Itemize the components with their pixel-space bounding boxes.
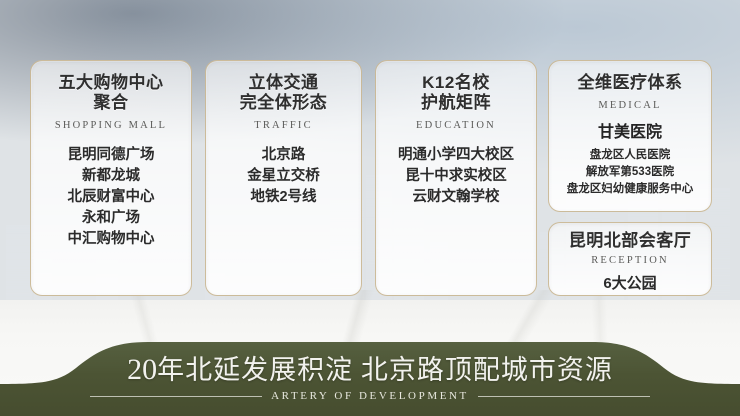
- card-subtitle: TRAFFIC: [206, 120, 361, 131]
- bottom-banner: 20年北延发展积淀 北京路顶配城市资源 ARTERY OF DEVELOPMEN…: [0, 340, 740, 416]
- card-reception[interactable]: 昆明北部会客厅 RECEPTION 6大公园: [548, 222, 712, 296]
- card-title-line: 五大购物中心: [31, 73, 191, 93]
- list-item: 昆明同德广场: [31, 145, 191, 166]
- card-item-list: 明通小学四大校区 昆十中求实校区 云财文翰学校: [376, 145, 536, 208]
- card-education[interactable]: K12名校 护航矩阵 EDUCATION 明通小学四大校区 昆十中求实校区 云财…: [375, 60, 537, 296]
- card-title: 昆明北部会客厅: [549, 231, 711, 251]
- card-subtitle: MEDICAL: [549, 100, 711, 111]
- card-title-line: 完全体形态: [206, 93, 361, 113]
- banner-subtitle: ARTERY OF DEVELOPMENT: [271, 390, 469, 402]
- banner-rule-right: [478, 396, 650, 397]
- banner-number: 20: [127, 353, 157, 386]
- card-title: 五大购物中心 聚合: [31, 73, 191, 113]
- banner-text-block: 20年北延发展积淀 北京路顶配城市资源 ARTERY OF DEVELOPMEN…: [0, 340, 740, 416]
- card-title-line: 护航矩阵: [376, 93, 536, 113]
- list-item: 昆十中求实校区: [376, 166, 536, 187]
- list-item: 金星立交桥: [206, 166, 361, 187]
- card-subtitle: RECEPTION: [549, 255, 711, 266]
- card-item-list: 昆明同德广场 新都龙城 北辰财富中心 永和广场 中汇购物中心: [31, 145, 191, 250]
- list-item: 解放军第533医院: [549, 164, 711, 181]
- list-item: 中汇购物中心: [31, 229, 191, 250]
- card-item-list: 6大公园: [549, 274, 711, 294]
- card-title-line: 聚合: [31, 93, 191, 113]
- list-item: 盘龙区妇幼健康服务中心: [549, 181, 711, 198]
- list-item: 新都龙城: [31, 166, 191, 187]
- card-title: K12名校 护航矩阵: [376, 73, 536, 113]
- card-title-line: K12名校: [376, 73, 536, 93]
- banner-subtitle-row: ARTERY OF DEVELOPMENT: [90, 390, 650, 402]
- card-title-line: 立体交通: [206, 73, 361, 93]
- card-title: 立体交通 完全体形态: [206, 73, 361, 113]
- list-item: 地铁2号线: [206, 187, 361, 208]
- card-shopping-mall[interactable]: 五大购物中心 聚合 SHOPPING MALL 昆明同德广场 新都龙城 北辰财富…: [30, 60, 192, 296]
- list-item: 北辰财富中心: [31, 187, 191, 208]
- card-traffic[interactable]: 立体交通 完全体形态 TRAFFIC 北京路 金星立交桥 地铁2号线: [205, 60, 362, 296]
- banner-headline-text: 年北延发展积淀 北京路顶配城市资源: [157, 355, 613, 385]
- card-title: 全维医疗体系: [549, 73, 711, 93]
- list-item: 盘龙区人民医院: [549, 147, 711, 164]
- poster-stage: 五大购物中心 聚合 SHOPPING MALL 昆明同德广场 新都龙城 北辰财富…: [0, 0, 740, 416]
- list-item: 云财文翰学校: [376, 187, 536, 208]
- card-subtitle: EDUCATION: [376, 120, 536, 131]
- card-lead-item: 甘美医院: [549, 123, 711, 143]
- list-item: 北京路: [206, 145, 361, 166]
- banner-headline: 20年北延发展积淀 北京路顶配城市资源: [127, 354, 613, 386]
- list-item: 6大公园: [549, 274, 711, 294]
- card-title-line: 全维医疗体系: [549, 73, 711, 93]
- list-item: 永和广场: [31, 208, 191, 229]
- card-item-list: 北京路 金星立交桥 地铁2号线: [206, 145, 361, 208]
- card-medical[interactable]: 全维医疗体系 MEDICAL 甘美医院 盘龙区人民医院 解放军第533医院 盘龙…: [548, 60, 712, 212]
- card-item-list: 盘龙区人民医院 解放军第533医院 盘龙区妇幼健康服务中心: [549, 147, 711, 198]
- card-subtitle: SHOPPING MALL: [31, 120, 191, 131]
- banner-rule-left: [90, 396, 262, 397]
- card-title-line: 昆明北部会客厅: [549, 231, 711, 251]
- list-item: 明通小学四大校区: [376, 145, 536, 166]
